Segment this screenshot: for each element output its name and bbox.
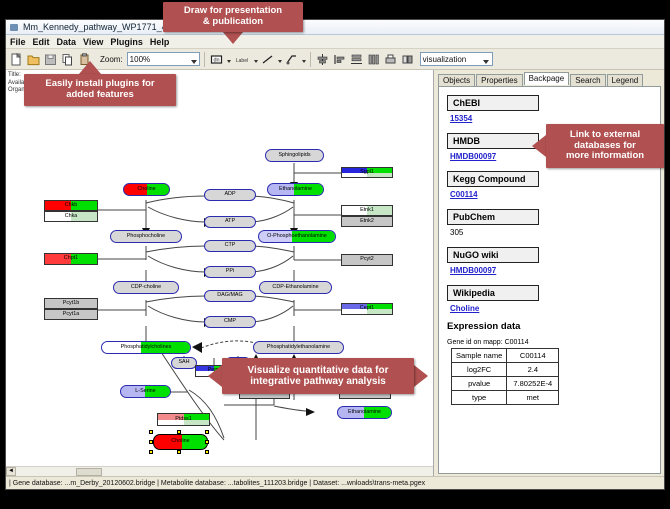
node-o-phosphoethanolamine[interactable]: O-Phosphoethanolamine [258, 230, 336, 243]
callout-draw-for-publication: Draw for presentation & publication [163, 2, 303, 32]
node-atp[interactable]: ATP [204, 216, 256, 228]
line-dropdown-icon[interactable] [277, 50, 282, 68]
selection-handle[interactable] [149, 450, 153, 454]
table-cell-value: 2.4 [507, 363, 559, 377]
node-ethanolamine-bottom[interactable]: Ethanolamine [337, 406, 392, 419]
order-icon[interactable] [400, 52, 415, 67]
canvas-hscrollbar[interactable]: ◄ [6, 466, 433, 476]
node-ethanolamine[interactable]: Ethanolamine [267, 183, 324, 196]
node-choline-selected[interactable]: Choline [153, 434, 208, 450]
line-icon[interactable] [260, 52, 275, 67]
db-link-kegg[interactable]: C00114 [450, 190, 652, 199]
application-icon [10, 23, 19, 32]
db-header-pubchem: PubChem [447, 209, 539, 225]
tab-legend[interactable]: Legend [607, 74, 644, 86]
node-sah[interactable]: SAH [171, 357, 197, 369]
svg-text:Label: Label [236, 58, 248, 64]
node-ptdss1[interactable]: Ptdss1 [157, 413, 210, 426]
tool-bar: Zoom: 100% dn Label [6, 49, 664, 70]
menu-item-edit[interactable]: Edit [33, 37, 50, 47]
node-label: Chpt1 [64, 256, 78, 261]
callout-viz-line-1: Visualize quantitative data for [248, 365, 389, 377]
callout-install-plugins: Easily install plugins for added feature… [24, 74, 176, 106]
callout-external-links: Link to external databases for more info… [546, 124, 664, 168]
datanode-icon[interactable]: dn [209, 52, 224, 67]
align-left-icon[interactable] [332, 52, 347, 67]
visualization-value: visualization [423, 55, 467, 64]
db-header-kegg: Kegg Compound [447, 171, 539, 187]
zoom-value: 100% [130, 55, 150, 64]
selection-handle[interactable] [205, 450, 209, 454]
menu-item-file[interactable]: File [10, 37, 26, 47]
zoom-combobox[interactable]: 100% [127, 52, 200, 66]
gene-id-on-mapp: Gene id on mapp: C00114 [447, 339, 652, 346]
node-choline-top[interactable]: Choline [123, 183, 170, 196]
table-cell-value: met [507, 391, 559, 405]
selection-handle[interactable] [177, 450, 181, 454]
db-link-nugowiki[interactable]: HMDB00097 [450, 266, 652, 275]
chevron-down-icon[interactable] [191, 57, 197, 66]
sidebar-tabs: Objects Properties Backpage Search Legen… [434, 72, 664, 86]
pathway-canvas[interactable]: Title: Availa Organi [6, 70, 434, 476]
selection-handle[interactable] [177, 430, 181, 434]
selection-handle[interactable] [149, 430, 153, 434]
menu-item-data[interactable]: Data [57, 37, 77, 47]
node-label: ADP [224, 192, 235, 197]
tab-backpage[interactable]: Backpage [524, 72, 570, 85]
distribute-icon[interactable] [366, 52, 381, 67]
node-l-serine-left[interactable]: L-Serine [120, 385, 171, 398]
node-cept1[interactable]: Cept1 [341, 303, 393, 315]
callout-plugins-arrow [79, 61, 101, 74]
node-chka[interactable]: Chka [44, 211, 98, 222]
node-ppi[interactable]: PPi [204, 266, 256, 278]
callout-visualize-arrow [208, 365, 222, 387]
node-label: CMP [224, 319, 236, 324]
interaction-icon[interactable] [284, 52, 299, 67]
node-dagmag[interactable]: DAG/MAG [204, 290, 256, 302]
db-link-chebi[interactable]: 15354 [450, 114, 652, 123]
db-header-chebi: ChEBI [447, 95, 539, 111]
node-cdp-choline[interactable]: CDP-choline [113, 281, 179, 294]
node-label: Etnk2 [360, 219, 374, 224]
svg-text:dn: dn [213, 57, 219, 63]
tab-search[interactable]: Search [570, 74, 605, 86]
zoom-label: Zoom: [100, 55, 123, 64]
node-chkb[interactable]: Chkb [44, 200, 98, 211]
table-cell-key: log2FC [452, 363, 507, 377]
open-folder-icon[interactable] [26, 52, 41, 67]
scroll-thumb[interactable] [76, 468, 102, 476]
node-label: Pcyt2 [360, 257, 373, 262]
table-row: log2FC 2.4 [452, 363, 559, 377]
selection-handle[interactable] [149, 440, 153, 444]
node-pcyt1a[interactable]: Pcyt1a [44, 309, 98, 320]
datanode-dropdown-icon[interactable] [226, 50, 231, 68]
node-pcyt1b[interactable]: Pcyt1b [44, 298, 98, 309]
table-cell-value: C00114 [507, 349, 559, 363]
callout-visualize-arrow-right [414, 365, 428, 387]
db-value-pubchem: 305 [450, 228, 652, 237]
node-label: Chkb [65, 203, 78, 208]
db-header-nugowiki: NuGO wiki [447, 247, 539, 263]
table-cell-key: Sample name [452, 349, 507, 363]
node-label: Ethanolamine [348, 410, 381, 415]
menu-item-help[interactable]: Help [150, 37, 170, 47]
node-label: SAH [178, 360, 189, 365]
node-chpt1[interactable]: Chpt1 [44, 253, 98, 265]
callout-plugins-line-2: added features [45, 90, 154, 101]
callout-visualize-data: Visualize quantitative data for integrat… [222, 358, 414, 394]
node-label: Ethanolamine [279, 187, 312, 192]
tab-objects[interactable]: Objects [438, 74, 475, 86]
table-row: Sample name C00114 [452, 349, 559, 363]
callout-links-line-1: Link to external [566, 130, 644, 141]
node-label: CDP-Ethanolamine [272, 285, 318, 290]
node-label: Chka [65, 214, 78, 219]
node-label: CDP-choline [131, 285, 161, 290]
node-label: Choline [171, 439, 189, 444]
table-cell-value: 7.80252E-4 [507, 377, 559, 391]
node-label: PPi [226, 269, 234, 274]
node-label: Sphingolipids [278, 153, 310, 158]
node-ctp[interactable]: CTP [204, 240, 256, 252]
node-label: Choline [137, 187, 155, 192]
stack-vertical-icon[interactable] [349, 52, 364, 67]
node-phosphatidylcholines[interactable]: Phosphatidylcholines [101, 341, 191, 354]
node-label: L-Serine [135, 389, 155, 394]
node-etnk1[interactable]: Etnk1 [341, 205, 393, 216]
node-phosphatidylethanolamine[interactable]: Phosphatidylethanolamine [253, 341, 344, 354]
node-sgpl1[interactable]: Sgpl1 [341, 167, 393, 178]
print-icon[interactable] [383, 52, 398, 67]
node-label: CTP [225, 243, 236, 248]
node-label: Phosphocholine [127, 234, 165, 239]
node-label: ATP [225, 219, 235, 224]
node-label: Pcyt1b [63, 301, 79, 306]
label-icon[interactable]: Label [233, 52, 251, 67]
node-label: O-Phosphoethanolamine [267, 234, 327, 239]
node-label: Pcyt1a [63, 312, 79, 317]
table-cell-key: type [452, 391, 507, 405]
callout-links-line-3: more information [566, 151, 644, 162]
tab-properties[interactable]: Properties [476, 74, 522, 86]
status-text: | Gene database: ...m_Derby_20120602.bri… [9, 480, 425, 487]
menu-item-plugins[interactable]: Plugins [110, 37, 143, 47]
save-disk-icon[interactable] [43, 52, 58, 67]
toolbar-separator [204, 52, 205, 67]
node-label: DAG/MAG [217, 293, 242, 298]
node-label: Ptdss1 [175, 417, 191, 422]
selection-handle[interactable] [205, 430, 209, 434]
visualization-combobox[interactable]: visualization [420, 52, 493, 66]
db-header-wikipedia: Wikipedia [447, 285, 539, 301]
node-label: Phosphatidylethanolamine [267, 345, 330, 350]
menu-bar: File Edit Data View Plugins Help [6, 35, 664, 49]
chevron-down-icon-2[interactable] [483, 57, 489, 66]
node-label: Etnk1 [360, 208, 374, 213]
callout-draw-line-2: & publication [184, 17, 282, 28]
scroll-left-icon[interactable]: ◄ [6, 467, 16, 476]
status-bar: | Gene database: ...m_Derby_20120602.bri… [6, 476, 664, 489]
node-sphingolipids[interactable]: Sphingolipids [265, 149, 324, 162]
node-pcyt2[interactable]: Pcyt2 [341, 254, 393, 266]
table-row: type met [452, 391, 559, 405]
title-bar: Mm_Kennedy_pathway_WP1771_45176.gpml [6, 20, 664, 35]
expression-data-heading: Expression data [447, 321, 652, 332]
toolbar-separator-2 [310, 52, 311, 67]
node-label: Cept1 [360, 306, 374, 311]
node-cmp[interactable]: CMP [204, 316, 256, 328]
callout-draw-arrow [222, 31, 244, 44]
db-header-hmdb: HMDB [447, 133, 539, 149]
callout-links-arrow [532, 135, 546, 157]
table-cell-key: pvalue [452, 377, 507, 391]
node-cdp-ethanolamine[interactable]: CDP-Ethanolamine [259, 281, 332, 294]
align-center-icon[interactable] [315, 52, 330, 67]
db-link-wikipedia[interactable]: Choline [450, 304, 652, 313]
label-dropdown-icon[interactable] [253, 50, 258, 68]
interaction-dropdown-icon[interactable] [301, 50, 306, 68]
table-row: pvalue 7.80252E-4 [452, 377, 559, 391]
expression-table: Sample name C00114 log2FC 2.4 pvalue 7.8… [451, 348, 559, 405]
copy-icon[interactable] [60, 52, 75, 67]
node-label: Sgpl1 [360, 170, 374, 175]
selection-handle[interactable] [205, 440, 209, 444]
new-document-icon[interactable] [9, 52, 24, 67]
node-adp[interactable]: ADP [204, 189, 256, 201]
node-label: Phosphatidylcholines [121, 345, 172, 350]
callout-viz-line-2: integrative pathway analysis [248, 376, 389, 388]
menu-item-view[interactable]: View [83, 37, 103, 47]
node-phosphocholine[interactable]: Phosphocholine [110, 230, 182, 243]
node-etnk2[interactable]: Etnk2 [341, 216, 393, 227]
